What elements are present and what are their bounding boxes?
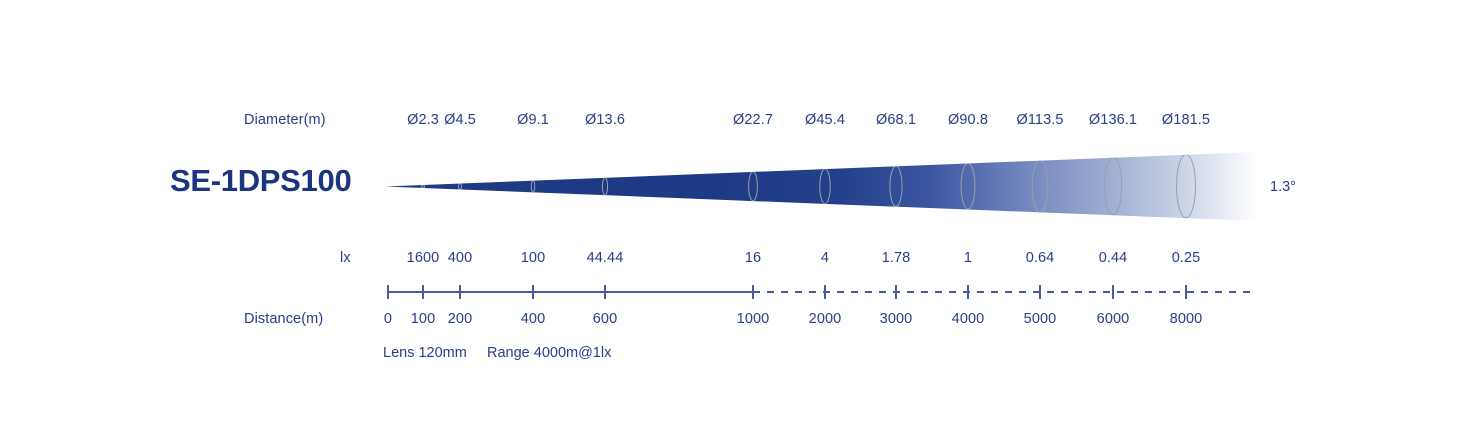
diameter-value: Ø13.6: [585, 112, 625, 128]
diameter-value: Ø45.4: [805, 112, 845, 128]
lux-value: 0.44: [1099, 250, 1128, 266]
diameter-value: Ø9.1: [517, 112, 549, 128]
diameter-value: Ø90.8: [948, 112, 988, 128]
lux-value: 100: [521, 250, 546, 266]
distance-value: 400: [521, 311, 546, 327]
beam-diagram: SE-1DPS100 1.3° Diameter(m) lx Distance(…: [0, 0, 1465, 446]
distance-value: 0: [384, 311, 392, 327]
lux-value: 0.25: [1172, 250, 1201, 266]
lux-value: 1.78: [882, 250, 911, 266]
distance-value: 200: [448, 311, 473, 327]
lux-value: 1600: [407, 250, 440, 266]
lux-value: 1: [964, 250, 972, 266]
distance-value: 2000: [809, 311, 842, 327]
diameter-value: Ø2.3: [407, 112, 439, 128]
diameter-value: Ø113.5: [1016, 112, 1063, 128]
distance-value: 100: [411, 311, 436, 327]
distance-axis: [0, 0, 1465, 446]
diameter-value: Ø181.5: [1162, 112, 1210, 128]
lux-value: 400: [448, 250, 473, 266]
range-caption: Range 4000m@1lx: [487, 345, 611, 361]
diameter-value: Ø136.1: [1089, 112, 1137, 128]
distance-value: 6000: [1097, 311, 1130, 327]
lux-value: 44.44: [587, 250, 624, 266]
distance-value: 5000: [1024, 311, 1057, 327]
distance-value: 4000: [952, 311, 985, 327]
lux-value: 16: [745, 250, 761, 266]
diameter-value: Ø68.1: [876, 112, 916, 128]
distance-value: 1000: [737, 311, 770, 327]
diameter-value: Ø22.7: [733, 112, 773, 128]
lux-value: 4: [821, 250, 829, 266]
lux-value: 0.64: [1026, 250, 1055, 266]
distance-value: 8000: [1170, 311, 1203, 327]
lens-caption: Lens 120mm: [383, 345, 467, 361]
diameter-value: Ø4.5: [444, 112, 476, 128]
distance-value: 600: [593, 311, 618, 327]
distance-value: 3000: [880, 311, 913, 327]
